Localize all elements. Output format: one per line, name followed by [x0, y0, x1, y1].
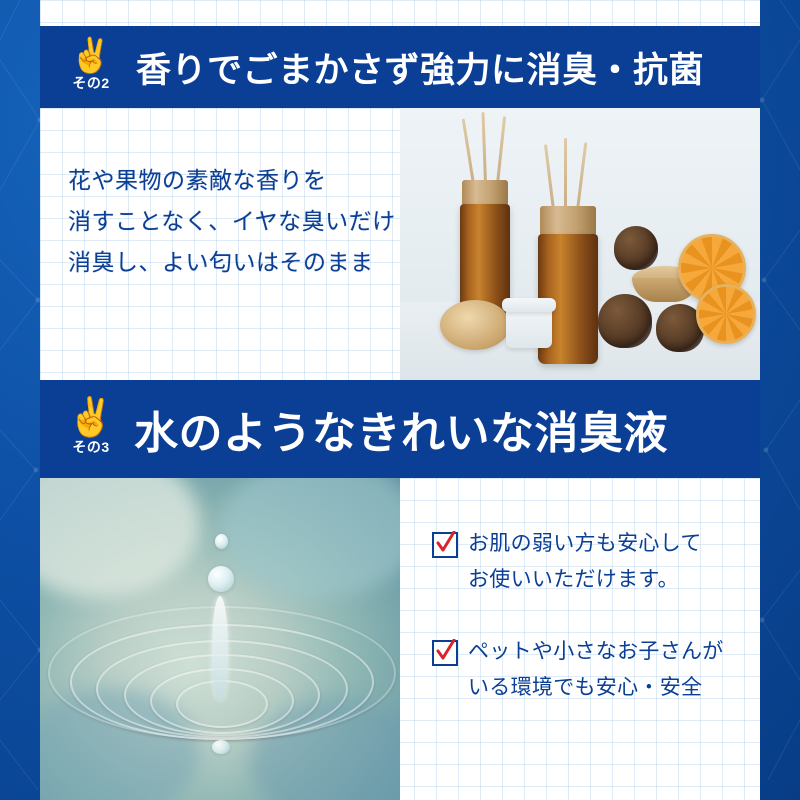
content-panel: ✌ その2 香りでごまかさず強力に消臭・抗菌 花や果物の素敵な香りを 消すことな…: [40, 0, 760, 800]
section-3-body: お肌の弱い方も安心して お使いいただけます。 ペットや小さなお子さんが いる環境…: [40, 478, 760, 800]
checklist-item-2-line-1: ペットや小さなお子さんが: [468, 640, 724, 663]
checklist-item: お肌の弱い方も安心して お使いいただけます。: [432, 526, 752, 598]
checklist-item-text: お肌の弱い方も安心して お使いいただけます。: [468, 526, 702, 598]
section-3-headline: 水のようなきれいな消臭液: [134, 397, 668, 461]
section-2-text-line-3: 消臭し、よい匂いはそのまま: [68, 242, 396, 283]
checklist-item-2-line-2: いる環境でも安心・安全: [468, 676, 702, 699]
section-3-badge-label: その3: [72, 437, 109, 457]
checklist-item-1-line-1: お肌の弱い方も安心して: [468, 532, 702, 555]
section-2-headline: 香りでごまかさず強力に消臭・抗菌: [136, 42, 704, 93]
section-2-headline-bar: ✌ その2 香りでごまかさず強力に消臭・抗菌: [40, 26, 760, 108]
page-root: ✌ その2 香りでごまかさず強力に消臭・抗菌 花や果物の素敵な香りを 消すことな…: [0, 0, 800, 800]
section-3-badge: ✌ その3: [54, 380, 128, 478]
checklist-item: ペットや小さなお子さんが いる環境でも安心・安全: [432, 634, 752, 706]
section-2-body: 花や果物の素敵な香りを 消すことなく、イヤな臭いだけ 消臭し、よい匂いはそのまま: [40, 108, 760, 380]
red-check-icon: [432, 640, 458, 666]
checklist-item-1-line-2: お使いいただけます。: [468, 568, 679, 591]
section-3-checklist: お肌の弱い方も安心して お使いいただけます。 ペットや小さなお子さんが いる環境…: [432, 526, 752, 742]
peace-hand-icon: ✌: [70, 41, 112, 71]
reed-diffuser-photo: [400, 108, 760, 380]
water-droplet-photo: [40, 478, 400, 800]
previous-section-cutoff: [40, 0, 760, 26]
section-2-text: 花や果物の素敵な香りを 消すことなく、イヤな臭いだけ 消臭し、よい匂いはそのまま: [68, 160, 396, 283]
section-2-text-line-2: 消すことなく、イヤな臭いだけ: [68, 201, 396, 242]
section-2-badge-label: その2: [72, 73, 109, 93]
peace-hand-icon: ✌: [67, 401, 114, 435]
section-2-text-line-1: 花や果物の素敵な香りを: [68, 160, 396, 201]
section-3-headline-bar: ✌ その3 水のようなきれいな消臭液: [40, 380, 760, 478]
checklist-item-text: ペットや小さなお子さんが いる環境でも安心・安全: [468, 634, 724, 706]
red-check-icon: [432, 532, 458, 558]
section-2-badge: ✌ その2: [54, 26, 128, 108]
